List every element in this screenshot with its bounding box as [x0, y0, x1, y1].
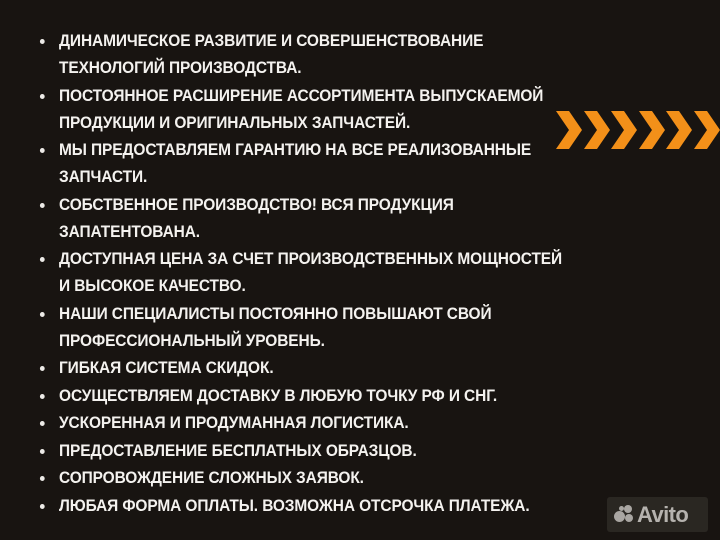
bullet-dot-icon	[40, 94, 45, 99]
benefit-text: ЛЮБАЯ ФОРМА ОПЛАТЫ. ВОЗМОЖНА ОТСРОЧКА ПЛ…	[59, 497, 530, 515]
avito-wordmark: Avito	[637, 504, 688, 526]
benefit-item: СОПРОВОЖДЕНИЕ СЛОЖНЫХ ЗАЯВОК.	[38, 465, 573, 492]
bullet-dot-icon	[40, 257, 45, 262]
benefit-item: ГИБКАЯ СИСТЕМА СКИДОК.	[38, 355, 573, 382]
bullet-dot-icon	[40, 148, 45, 153]
bullet-dot-icon	[40, 421, 45, 426]
benefit-text: ПРЕДОСТАВЛЕНИЕ БЕСПЛАТНЫХ ОБРАЗЦОВ.	[59, 442, 417, 460]
benefit-text: МЫ ПРЕДОСТАВЛЯЕМ ГАРАНТИЮ НА ВСЕ РЕАЛИЗО…	[59, 141, 531, 186]
avito-dots-icon	[614, 505, 635, 524]
bullet-dot-icon	[40, 366, 45, 371]
bullet-dot-icon	[40, 394, 45, 399]
chevron-right-icon	[694, 111, 720, 149]
benefits-list: ДИНАМИЧЕСКОЕ РАЗВИТИЕ И СОВЕРШЕНСТВОВАНИ…	[38, 28, 598, 520]
chevron-right-icon	[611, 111, 637, 149]
benefit-item: ДОСТУПНАЯ ЦЕНА ЗА СЧЕТ ПРОИЗВОДСТВЕННЫХ …	[38, 246, 573, 300]
benefit-item: УСКОРЕННАЯ И ПРОДУМАННАЯ ЛОГИСТИКА.	[38, 410, 573, 437]
benefit-item: ОСУЩЕСТВЛЯЕМ ДОСТАВКУ В ЛЮБУЮ ТОЧКУ РФ И…	[38, 383, 573, 410]
benefit-item: МЫ ПРЕДОСТАВЛЯЕМ ГАРАНТИЮ НА ВСЕ РЕАЛИЗО…	[38, 137, 573, 191]
chevron-right-icon	[556, 111, 582, 149]
benefit-item: ЛЮБАЯ ФОРМА ОПЛАТЫ. ВОЗМОЖНА ОТСРОЧКА ПЛ…	[38, 493, 573, 520]
benefit-item: ПРЕДОСТАВЛЕНИЕ БЕСПЛАТНЫХ ОБРАЗЦОВ.	[38, 438, 573, 465]
benefit-text: НАШИ СПЕЦИАЛИСТЫ ПОСТОЯННО ПОВЫШАЮТ СВОЙ…	[59, 305, 491, 350]
benefit-text: ОСУЩЕСТВЛЯЕМ ДОСТАВКУ В ЛЮБУЮ ТОЧКУ РФ И…	[59, 387, 497, 405]
bullet-dot-icon	[40, 504, 45, 509]
avito-watermark: Avito	[607, 497, 708, 532]
bullet-dot-icon	[40, 39, 45, 44]
bullet-dot-icon	[40, 312, 45, 317]
benefit-text: ГИБКАЯ СИСТЕМА СКИДОК.	[59, 359, 274, 377]
chevron-right-icon	[584, 111, 610, 149]
benefit-text: ДИНАМИЧЕСКОЕ РАЗВИТИЕ И СОВЕРШЕНСТВОВАНИ…	[59, 32, 483, 77]
benefit-item: СОБСТВЕННОЕ ПРОИЗВОДСТВО! ВСЯ ПРОДУКЦИЯ …	[38, 192, 573, 246]
chevron-right-icon	[666, 111, 692, 149]
bullet-dot-icon	[40, 476, 45, 481]
benefit-text: СОБСТВЕННОЕ ПРОИЗВОДСТВО! ВСЯ ПРОДУКЦИЯ …	[59, 196, 454, 241]
benefit-item: НАШИ СПЕЦИАЛИСТЫ ПОСТОЯННО ПОВЫШАЮТ СВОЙ…	[38, 301, 573, 355]
chevron-strip	[556, 111, 720, 149]
benefit-text: СОПРОВОЖДЕНИЕ СЛОЖНЫХ ЗАЯВОК.	[59, 469, 364, 487]
bullet-dot-icon	[40, 449, 45, 454]
slide-canvas: ДИНАМИЧЕСКОЕ РАЗВИТИЕ И СОВЕРШЕНСТВОВАНИ…	[0, 0, 720, 540]
benefit-item: ПОСТОЯННОЕ РАСШИРЕНИЕ АССОРТИМЕНТА ВЫПУС…	[38, 83, 573, 137]
chevron-right-icon	[639, 111, 665, 149]
benefit-text: ПОСТОЯННОЕ РАСШИРЕНИЕ АССОРТИМЕНТА ВЫПУС…	[59, 87, 543, 132]
benefit-text: ДОСТУПНАЯ ЦЕНА ЗА СЧЕТ ПРОИЗВОДСТВЕННЫХ …	[59, 250, 562, 295]
benefit-item: ДИНАМИЧЕСКОЕ РАЗВИТИЕ И СОВЕРШЕНСТВОВАНИ…	[38, 28, 573, 82]
benefit-text: УСКОРЕННАЯ И ПРОДУМАННАЯ ЛОГИСТИКА.	[59, 414, 409, 432]
bullet-dot-icon	[40, 203, 45, 208]
